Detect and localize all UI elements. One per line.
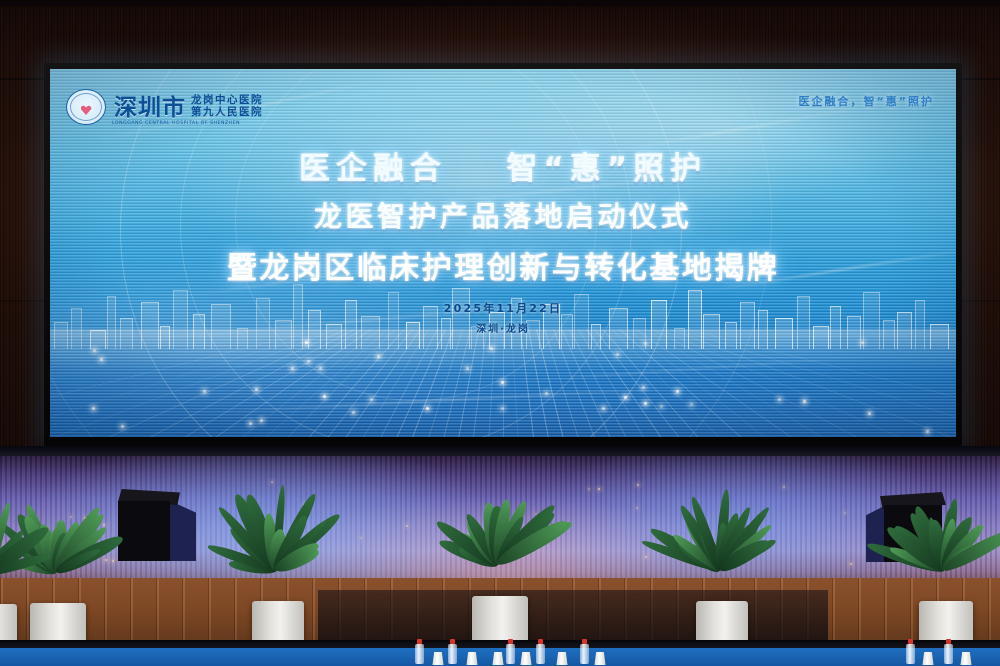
paper-cup: [466, 652, 478, 665]
paper-cup: [520, 652, 532, 665]
logo-city-name: 深圳市: [114, 96, 186, 119]
potted-plant: [886, 492, 1000, 658]
logo-hospital-line1: 龙岗中心医院: [191, 95, 263, 106]
front-table: [0, 648, 1000, 666]
paper-cup: [492, 652, 504, 665]
potted-plant: [440, 486, 560, 656]
led-screen: 深圳市 龙岗中心医院 第九人民医院 LONGGANG CENTRAL HOSPI…: [50, 69, 956, 437]
event-date: 2025年11月22日: [444, 302, 562, 315]
water-bottle: [536, 644, 545, 664]
paper-cup: [556, 652, 568, 665]
water-bottle: [944, 644, 953, 664]
paper-cup: [960, 652, 972, 665]
potted-plant: [218, 492, 338, 658]
title-line-1: 医企融合 智“惠”照护: [50, 143, 956, 188]
title-line-2: 龙医智护产品落地启动仪式: [50, 195, 956, 235]
potted-plant: [662, 492, 782, 658]
water-bottle: [506, 644, 515, 664]
corner-slogan: 医企融合，智“惠”照护: [799, 93, 934, 109]
paper-cup: [594, 652, 606, 665]
logo-hospital-line2: 第九人民医院: [191, 107, 263, 118]
water-bottle: [448, 644, 457, 664]
logo-english-name: LONGGANG CENTRAL HOSPITAL OF SHENZHEN: [112, 121, 240, 126]
paper-cup: [922, 652, 934, 665]
title-line-1-part-b: 智“惠”照护: [506, 151, 707, 187]
paper-cup: [432, 652, 444, 665]
event-title-block: 医企融合 智“惠”照护 龙医智护产品落地启动仪式 暨龙岗区临床护理创新与转化基地…: [50, 143, 956, 335]
event-meta: 2025年11月22日 深圳·龙岗: [50, 300, 956, 335]
water-bottle: [415, 644, 424, 664]
potted-plant: [0, 496, 50, 660]
event-location: 深圳·龙岗: [50, 320, 956, 335]
hospital-emblem-icon: [66, 89, 106, 125]
ceiling-shadow: [0, 0, 1000, 6]
title-line-3: 暨龙岗区临床护理创新与转化基地揭牌: [50, 243, 956, 287]
title-line-1-part-a: 医企融合: [299, 151, 447, 187]
conference-hall-photo: 深圳市 龙岗中心医院 第九人民医院 LONGGANG CENTRAL HOSPI…: [0, 0, 1000, 666]
stage-monitor-speaker-left: [118, 489, 196, 561]
water-bottle: [906, 644, 915, 664]
water-bottle: [580, 644, 589, 664]
hospital-logo: 深圳市 龙岗中心医院 第九人民医院 LONGGANG CENTRAL HOSPI…: [66, 89, 263, 125]
perspective-grid: [50, 329, 956, 437]
